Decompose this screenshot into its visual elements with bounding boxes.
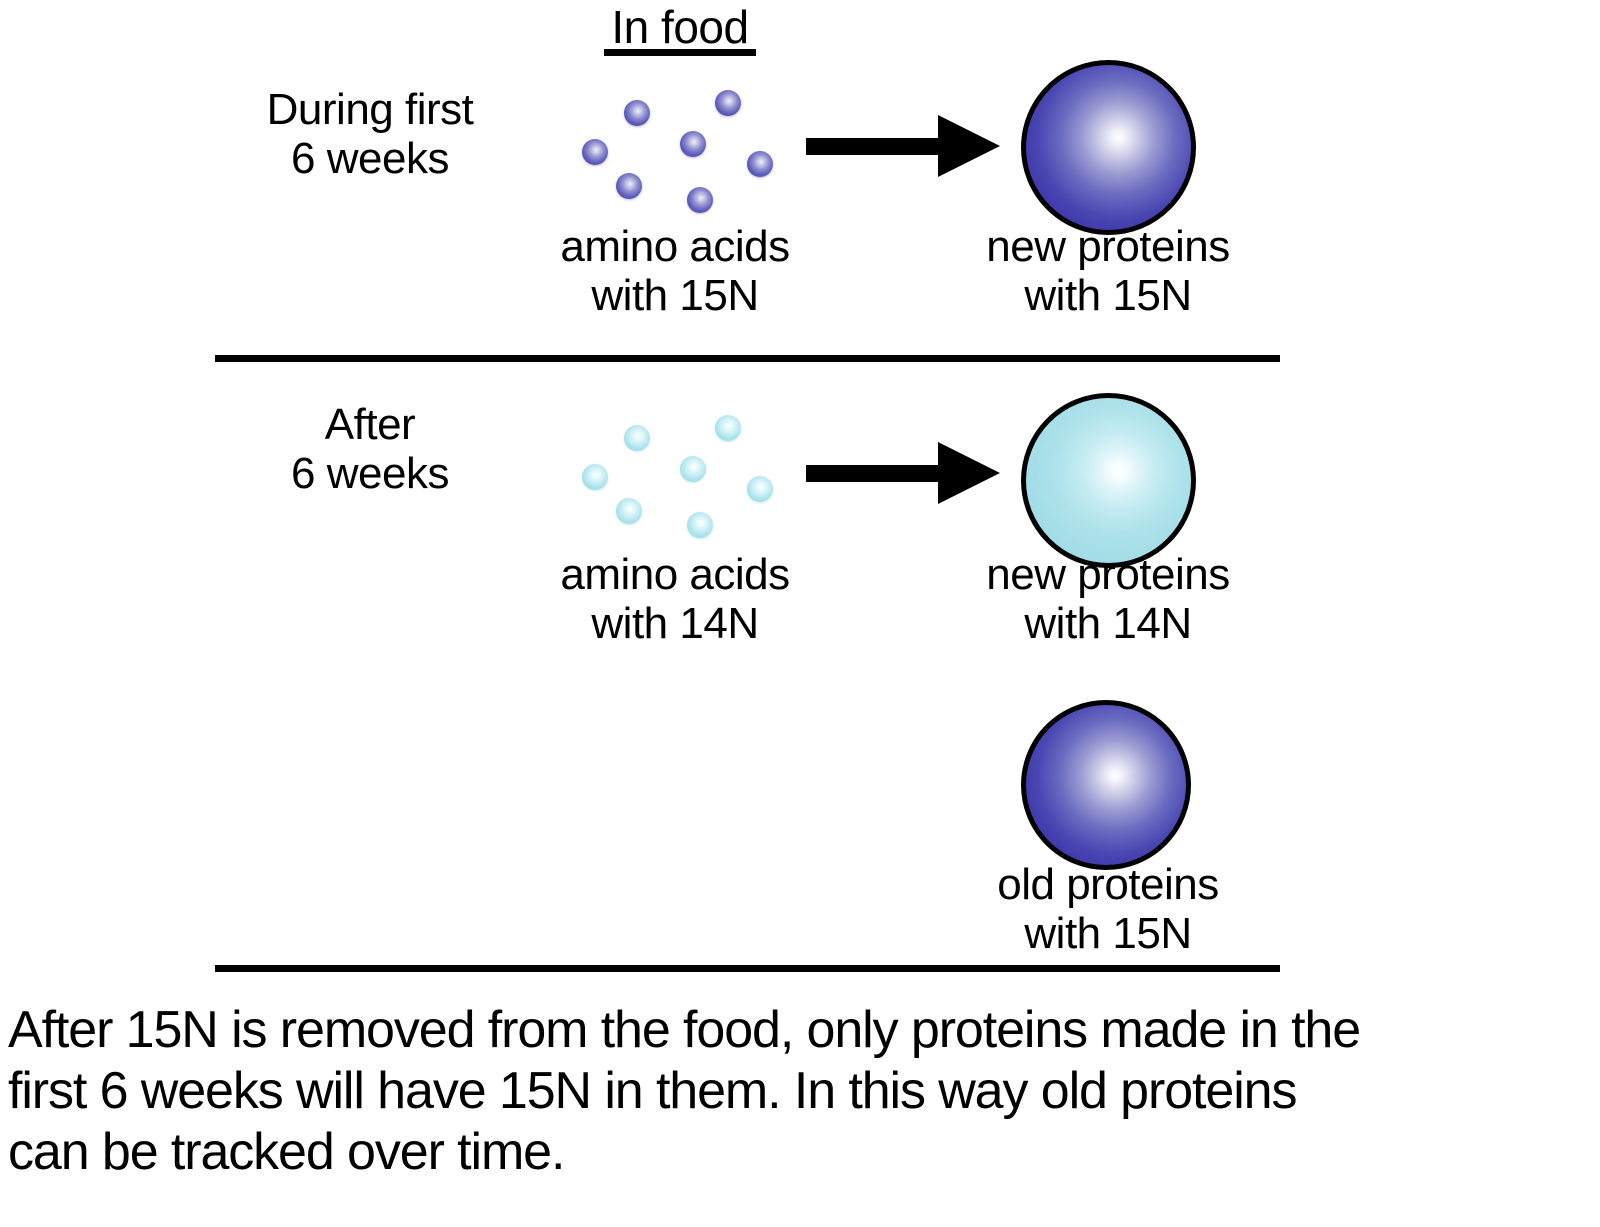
amino-acid-dot: [715, 415, 741, 441]
amino-acid-label-15n: amino acids with 15N: [510, 222, 840, 321]
figure-caption: After 15N is removed from the food, only…: [8, 1000, 1588, 1182]
arrow-shaft: [806, 138, 946, 155]
row-divider-1: [215, 355, 1280, 362]
amino-acid-dot: [616, 498, 642, 524]
protein-label-new-proteins-15n: new proteins with 15N: [943, 222, 1273, 321]
amino-acid-dot: [616, 173, 642, 199]
amino-acid-dot: [747, 151, 773, 177]
in-food-underline: [604, 49, 756, 56]
amino-acid-dot: [687, 512, 713, 538]
protein-circle-new-proteins-15n: [1021, 60, 1196, 235]
arrow-head-icon: [938, 442, 1000, 504]
amino-acid-dot: [624, 100, 650, 126]
arrow-shaft: [806, 465, 946, 482]
protein-circle-new-proteins-14n: [1021, 393, 1196, 568]
amino-acid-dot: [715, 90, 741, 116]
row-time-label-during-first-6-weeks: During first 6 weeks: [205, 85, 535, 184]
amino-acid-label-14n: amino acids with 14N: [510, 550, 840, 649]
arrow-head-icon: [938, 115, 1000, 177]
isotope-labeling-diagram: In food During first 6 weeks amino acids…: [0, 0, 1600, 1227]
amino-acid-cluster-14n: [565, 410, 785, 535]
amino-acid-dot: [680, 131, 706, 157]
protein-circle-old-proteins-15n: [1021, 700, 1191, 870]
amino-acid-dot: [680, 456, 706, 482]
in-food-heading: In food: [505, 0, 855, 54]
amino-acid-dot: [624, 425, 650, 451]
amino-acid-dot: [582, 464, 608, 490]
amino-acid-dot: [687, 187, 713, 213]
protein-label-old-proteins-15n: old proteins with 15N: [943, 860, 1273, 959]
amino-acid-cluster-15n: [565, 85, 785, 210]
protein-label-new-proteins-14n: new proteins with 14N: [943, 550, 1273, 649]
row-divider-2: [215, 965, 1280, 972]
row-time-label-after-6-weeks: After 6 weeks: [205, 400, 535, 499]
amino-acid-dot: [747, 476, 773, 502]
amino-acid-dot: [582, 139, 608, 165]
